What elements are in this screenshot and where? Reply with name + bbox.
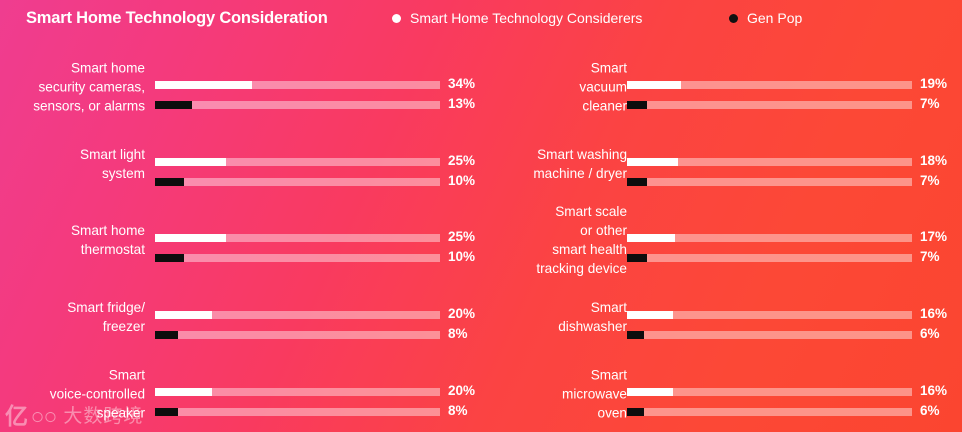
- bar-fill: [627, 311, 673, 319]
- bar-considerers: 16%: [627, 388, 962, 396]
- bar-track: [627, 234, 912, 242]
- bar-value: 6%: [920, 403, 940, 418]
- row-label: Smart home thermostat: [0, 221, 145, 259]
- bar-fill: [155, 158, 226, 166]
- black-dot-icon: [729, 14, 738, 23]
- page-title: Smart Home Technology Consideration: [26, 9, 328, 28]
- row-label: Smart dishwasher: [327, 298, 627, 336]
- row-label: Smart scale or other smart health tracki…: [327, 202, 627, 278]
- bar-gen-pop: 7%: [627, 178, 962, 186]
- bar-fill: [155, 408, 178, 416]
- bar-fill: [155, 81, 252, 89]
- row-label: Smart washing machine / dryer: [327, 145, 627, 183]
- bar-fill: [155, 254, 184, 262]
- bar-value: 16%: [920, 306, 947, 321]
- chart-row: Smart dishwasher 16% 6%: [481, 288, 962, 346]
- chart-row: Smart washing machine / dryer 18% 7%: [481, 135, 962, 193]
- row-label: Smart microwave oven: [327, 366, 627, 423]
- bar-fill: [155, 331, 178, 339]
- legend-label-gen-pop: Gen Pop: [747, 11, 802, 25]
- row-bars: 16% 6%: [627, 365, 962, 423]
- bar-value: 7%: [920, 173, 940, 188]
- bar-gen-pop: 6%: [627, 331, 962, 339]
- white-dot-icon: [392, 14, 401, 23]
- row-label: Smart vacuum cleaner: [327, 59, 627, 116]
- chart-row: Smart scale or other smart health tracki…: [481, 211, 962, 269]
- bar-considerers: 18%: [627, 158, 962, 166]
- bar-fill: [155, 311, 212, 319]
- chart-header: Smart Home Technology Consideration Smar…: [0, 0, 962, 40]
- bar-fill: [627, 158, 678, 166]
- legend-item-gen-pop: Gen Pop: [729, 11, 802, 25]
- legend-item-considerers: Smart Home Technology Considerers: [392, 11, 642, 25]
- row-bars: 17% 7%: [627, 211, 962, 269]
- chart-row: Smart microwave oven 16% 6%: [481, 365, 962, 423]
- bar-fill: [627, 408, 644, 416]
- bar-fill: [627, 234, 675, 242]
- bar-fill: [627, 101, 647, 109]
- row-label: Smart light system: [0, 145, 145, 183]
- chart-row: Smart vacuum cleaner 19% 7%: [481, 58, 962, 116]
- bar-considerers: 16%: [627, 311, 962, 319]
- bar-fill: [627, 254, 647, 262]
- bar-value: 6%: [920, 326, 940, 341]
- bar-fill: [155, 178, 184, 186]
- chart-column-right: Smart vacuum cleaner 19% 7% Smart washin…: [481, 46, 962, 432]
- bar-considerers: 19%: [627, 81, 962, 89]
- row-label: Smart fridge/ freezer: [0, 298, 145, 336]
- bar-value: 16%: [920, 383, 947, 398]
- bar-fill: [627, 388, 673, 396]
- bar-value: 18%: [920, 153, 947, 168]
- bar-value: 7%: [920, 249, 940, 264]
- bar-fill: [627, 331, 644, 339]
- bar-fill: [155, 101, 192, 109]
- bar-gen-pop: 7%: [627, 254, 962, 262]
- bar-track: [627, 331, 912, 339]
- bar-fill: [155, 388, 212, 396]
- bar-value: 17%: [920, 229, 947, 244]
- legend-label-considerers: Smart Home Technology Considerers: [410, 11, 642, 25]
- bar-fill: [627, 178, 647, 186]
- row-bars: 16% 6%: [627, 288, 962, 346]
- bar-track: [627, 81, 912, 89]
- bar-track: [627, 408, 912, 416]
- bar-gen-pop: 6%: [627, 408, 962, 416]
- row-label: Smart voice-controlled speaker: [0, 366, 145, 423]
- bar-track: [627, 158, 912, 166]
- bar-considerers: 17%: [627, 234, 962, 242]
- bar-track: [627, 388, 912, 396]
- row-label: Smart home security cameras, sensors, or…: [0, 59, 145, 116]
- bar-track: [627, 311, 912, 319]
- bar-track: [627, 254, 912, 262]
- bar-value: 7%: [920, 96, 940, 111]
- bar-value: 19%: [920, 76, 947, 91]
- bar-gen-pop: 7%: [627, 101, 962, 109]
- bar-fill: [155, 234, 226, 242]
- bar-track: [627, 101, 912, 109]
- row-bars: 19% 7%: [627, 58, 962, 116]
- row-bars: 18% 7%: [627, 135, 962, 193]
- bar-fill: [627, 81, 681, 89]
- bar-track: [627, 178, 912, 186]
